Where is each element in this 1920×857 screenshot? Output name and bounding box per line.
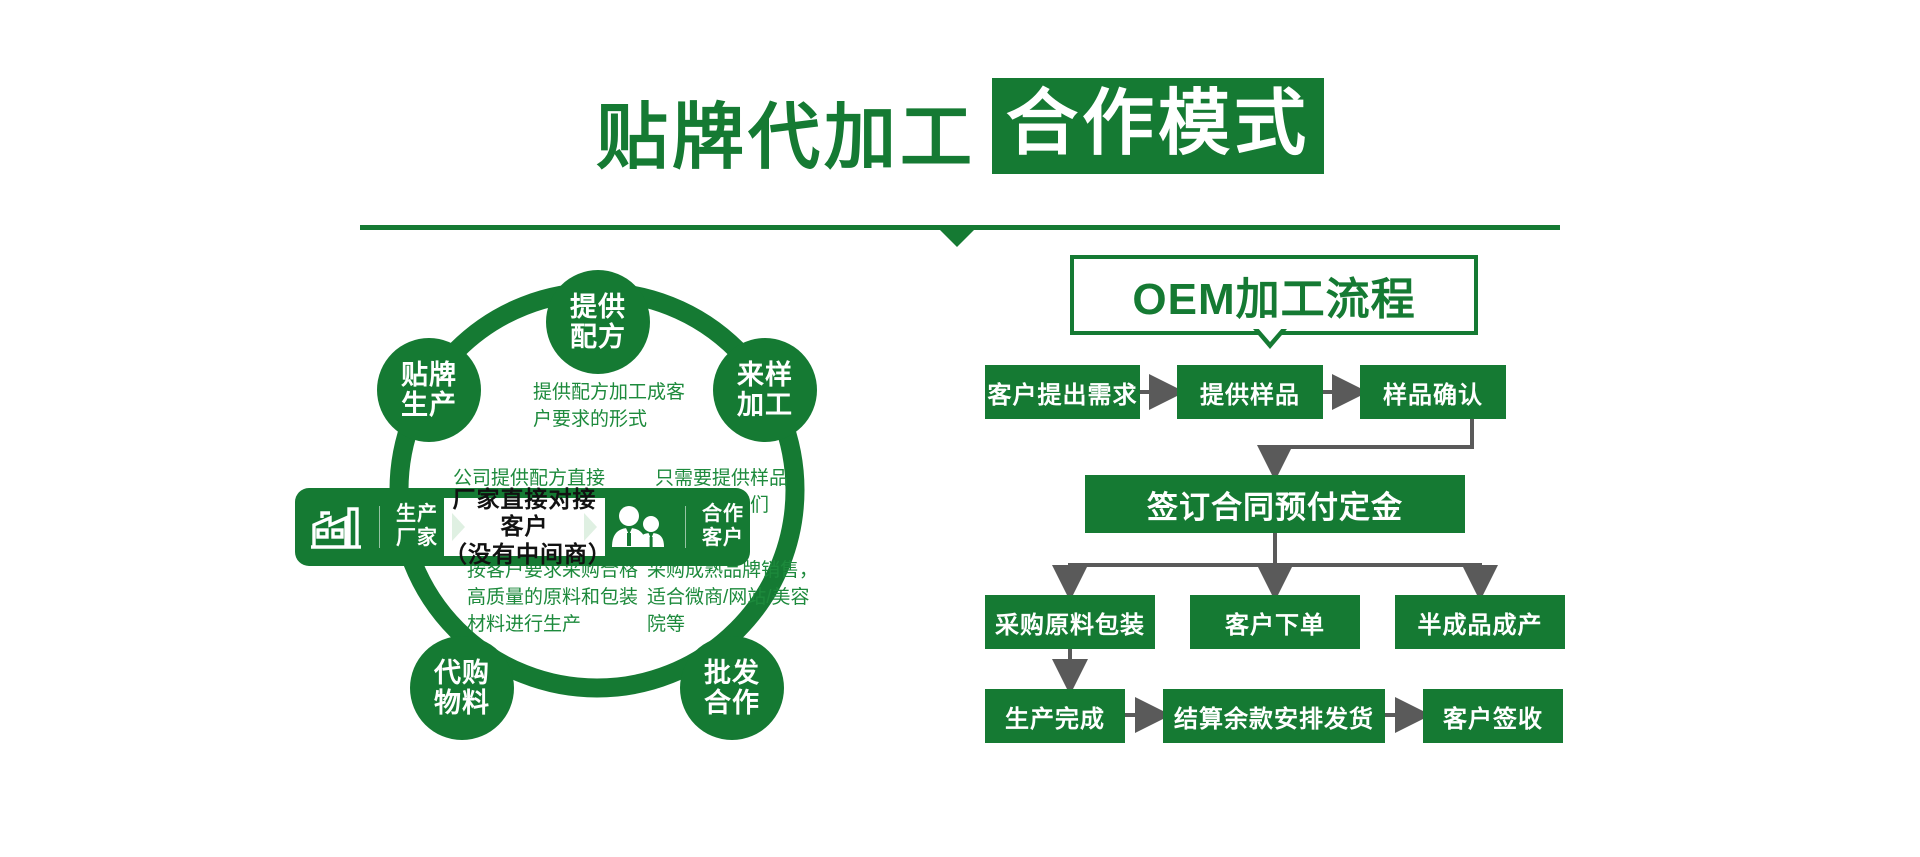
flow-box-customer-request[interactable]: 客户提出需求	[985, 365, 1140, 419]
cycle-node-line1: 批发	[704, 658, 760, 688]
factory-label: 生产 厂家	[390, 503, 444, 550]
customers-icon	[605, 505, 671, 549]
title-divider-chevron-icon	[935, 225, 979, 247]
cycle-node-line2: 配方	[570, 322, 626, 352]
cycle-node-oem-production[interactable]: 贴牌 生产	[377, 338, 481, 442]
factory-label-line2: 厂家	[396, 527, 438, 549]
cycle-desc-top: 提供配方加工成客 户要求的形式	[533, 380, 685, 434]
flow-box-semi-finished[interactable]: 半成品成产	[1395, 595, 1565, 649]
chevron-right-icon-left	[452, 513, 465, 541]
flow-box-purchase-materials[interactable]: 采购原料包装	[985, 595, 1155, 649]
cycle-desc-bottom-left: 按客户要求采购合格 高质量的原料和包装 材料进行生产	[467, 558, 638, 639]
flow-box-settle-and-ship[interactable]: 结算余款安排发货	[1163, 689, 1385, 743]
cycle-node-line2: 物料	[434, 688, 490, 718]
cycle-node-sample-processing[interactable]: 来样 加工	[713, 338, 817, 442]
title-boxed-text: 合作模式	[992, 78, 1324, 174]
flow-box-sample-confirm[interactable]: 样品确认	[1360, 365, 1506, 419]
factory-label-line1: 生产	[396, 503, 438, 525]
flow-box-production-complete[interactable]: 生产完成	[985, 689, 1125, 743]
flow-box-provide-sample[interactable]: 提供样品	[1177, 365, 1323, 419]
flow-box-customer-order[interactable]: 客户下单	[1190, 595, 1360, 649]
cycle-node-line1: 贴牌	[401, 360, 457, 390]
cycle-node-material-purchasing[interactable]: 代购 物料	[410, 636, 514, 740]
direct-message-line1: 厂家直接对接客户	[444, 486, 605, 541]
cycle-desc-bottom-right: 采购成熟品牌销售， 适合微商/网站/美容 院等	[647, 558, 818, 639]
cycle-node-line1: 代购	[434, 658, 490, 688]
direct-connection-bar: 生产 厂家 厂家直接对接客户 （没有中间商） 合作 客户	[295, 488, 750, 566]
direct-connection-message: 厂家直接对接客户 （没有中间商）	[444, 498, 605, 556]
cycle-node-line2: 生产	[401, 390, 457, 420]
factory-icon	[303, 504, 369, 550]
oem-process-flowchart: OEM加工流程 客户提出需求	[985, 255, 1605, 795]
chevron-right-icon-right	[584, 513, 597, 541]
customers-label-line1: 合作	[702, 503, 744, 525]
cycle-node-line1: 提供	[570, 292, 626, 322]
infographic-canvas: 贴牌代加工 合作模式 提供 配方 贴牌 生产 来样 加工 代购 物料 批发 合作…	[0, 0, 1920, 857]
customers-label: 合作 客户	[696, 503, 750, 550]
direct-message-line2: （没有中间商）	[444, 541, 605, 569]
page-title: 贴牌代加工 合作模式	[0, 78, 1920, 174]
bar-divider-right	[685, 506, 686, 548]
cycle-node-line2: 合作	[704, 688, 760, 718]
title-plain-text: 贴牌代加工	[596, 102, 976, 174]
cycle-node-supply-formula[interactable]: 提供 配方	[546, 270, 650, 374]
flow-box-sign-contract-deposit[interactable]: 签订合同预付定金	[1085, 475, 1465, 533]
cycle-node-line2: 加工	[737, 390, 793, 420]
cycle-node-line1: 来样	[737, 360, 793, 390]
flow-box-customer-receipt[interactable]: 客户签收	[1423, 689, 1563, 743]
customers-label-line2: 客户	[702, 527, 744, 549]
cycle-node-wholesale-cooperation[interactable]: 批发 合作	[680, 636, 784, 740]
bar-divider-left	[379, 506, 380, 548]
